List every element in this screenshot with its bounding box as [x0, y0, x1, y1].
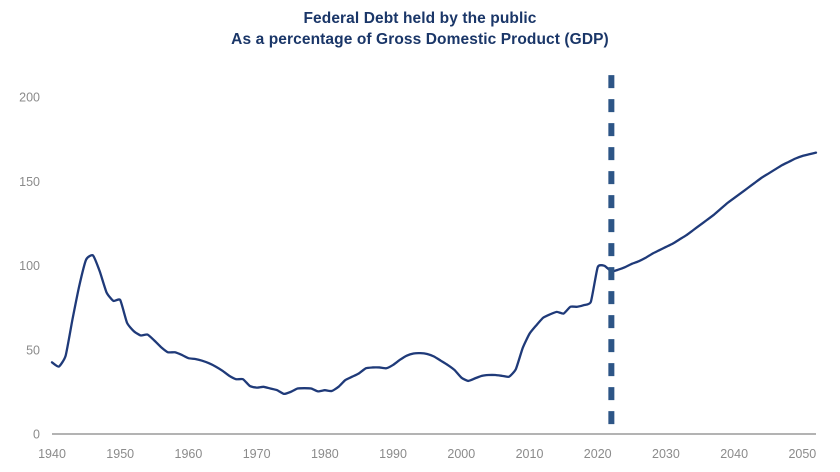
- x-axis-tick-labels: 1940195019601970198019902000201020202030…: [38, 447, 816, 461]
- y-axis-tick-labels: 050100150200: [19, 91, 40, 442]
- x-tick-1990: 1990: [379, 447, 407, 461]
- y-tick-200: 200: [19, 91, 40, 105]
- chart-container: Federal Debt held by the public As a per…: [0, 0, 840, 472]
- x-tick-2020: 2020: [584, 447, 612, 461]
- x-tick-2040: 2040: [720, 447, 748, 461]
- y-tick-150: 150: [19, 175, 40, 189]
- x-tick-2030: 2030: [652, 447, 680, 461]
- y-tick-0: 0: [33, 428, 40, 442]
- x-tick-1980: 1980: [311, 447, 339, 461]
- x-tick-1940: 1940: [38, 447, 66, 461]
- y-tick-50: 50: [26, 343, 40, 357]
- x-tick-2010: 2010: [516, 447, 544, 461]
- debt-series-line: [52, 153, 816, 394]
- x-tick-2000: 2000: [447, 447, 475, 461]
- x-tick-1970: 1970: [243, 447, 271, 461]
- x-tick-1960: 1960: [175, 447, 203, 461]
- x-tick-2050: 2050: [788, 447, 816, 461]
- y-tick-100: 100: [19, 259, 40, 273]
- line-chart-plot: 050100150200 194019501960197019801990200…: [0, 0, 840, 472]
- x-tick-1950: 1950: [106, 447, 134, 461]
